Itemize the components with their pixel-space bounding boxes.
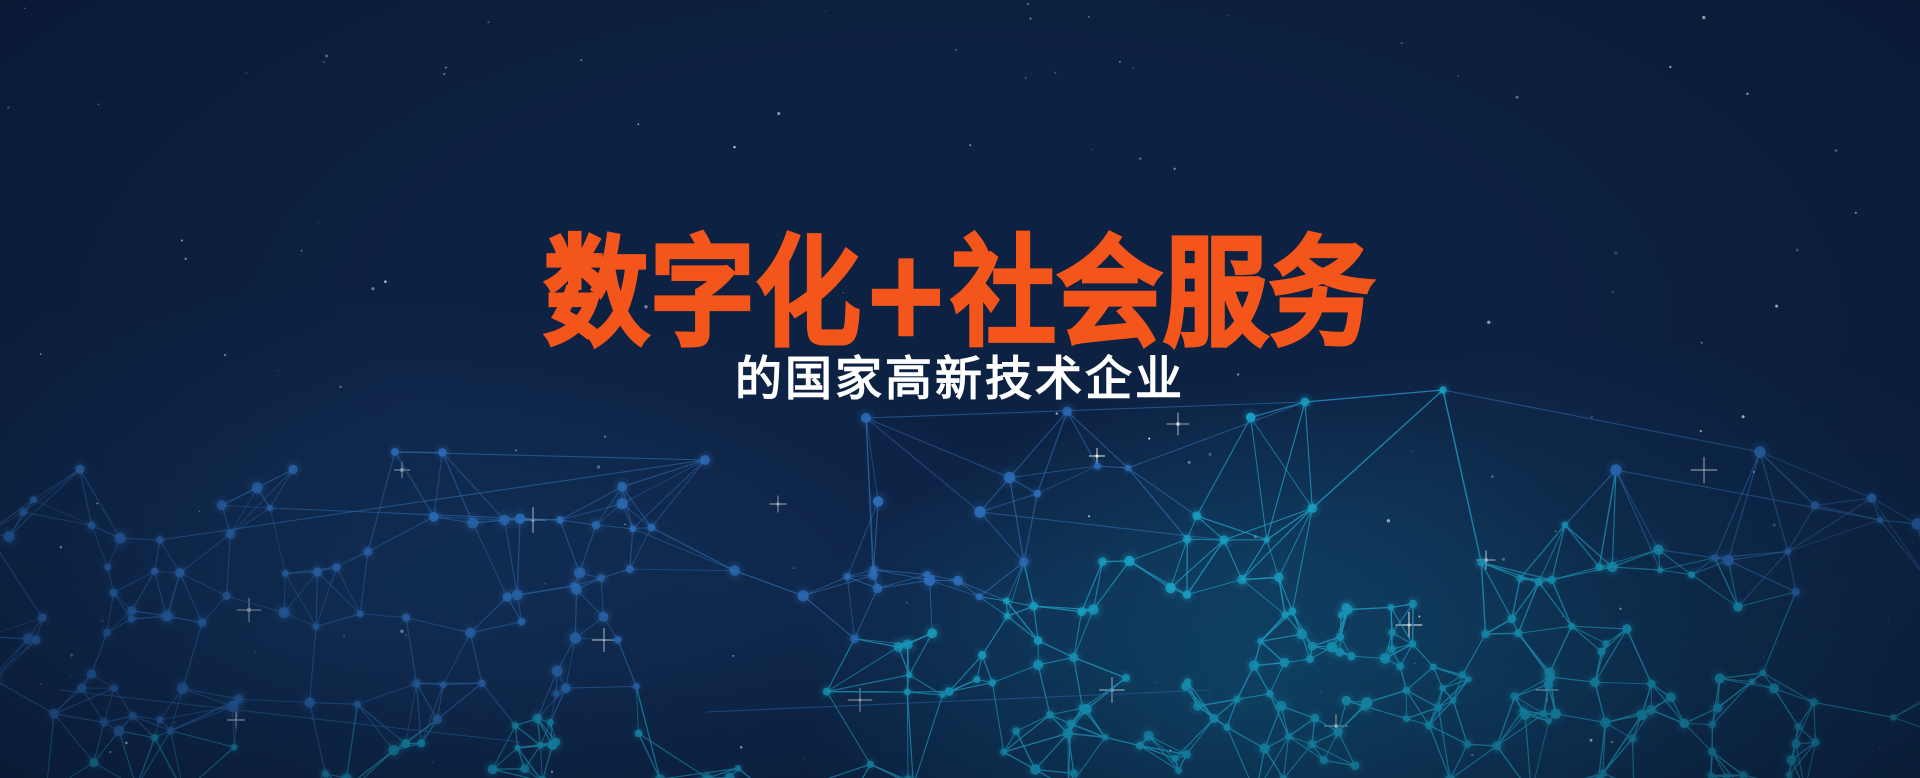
banner-headline: 数字化+社会服务 xyxy=(0,0,1920,355)
banner-root: 数字化+社会服务 的国家高新技术企业 xyxy=(0,0,1920,778)
banner-text-block: 数字化+社会服务 的国家高新技术企业 xyxy=(0,0,1920,406)
mesh-nodes xyxy=(0,382,1920,778)
